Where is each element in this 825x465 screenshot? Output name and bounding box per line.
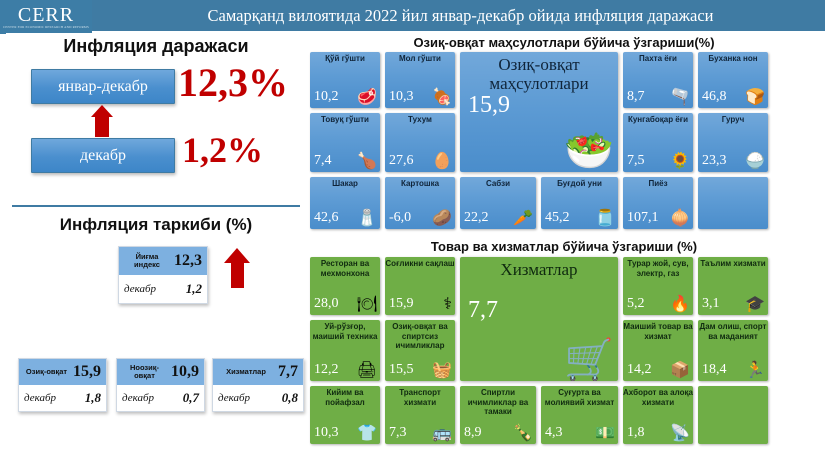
service-tile-label: Соғликни сақлаш [385, 259, 455, 269]
cotton-oil-icon: 🫗 [670, 90, 690, 106]
service-tile-label: Уй-рўзғор, маиший техника [310, 322, 380, 341]
summary-card: Йиғма индекс 12,3 декабр 1,2 [118, 246, 208, 304]
service-tile-label: Кийим ва пойафзал [310, 388, 380, 407]
parcel-box-icon: 📦 [670, 363, 690, 379]
service-tile-value: 3,1 [702, 296, 720, 312]
food-tile-label: Сабзи [460, 179, 536, 189]
mini-card-nonfood: Ноозиқ-овқат 10,9 декабр 0,7 [116, 358, 205, 412]
food-tile: Сабзи 22,2 🥕 [460, 177, 536, 229]
page-title: Самарқанд вилоятида 2022 йил январ-декаб… [96, 0, 825, 31]
service-tile: Кийим ва пойафзал 10,3 👕 [310, 386, 380, 444]
food-tile-label: Буханка нон [698, 54, 768, 64]
mini-card-services-bottom: декабр 0,8 [213, 385, 303, 411]
money-hand-icon: 💵 [595, 426, 615, 442]
flour-sack-icon: 🫙 [595, 211, 615, 227]
summary-card-label: Йиғма индекс [124, 253, 170, 270]
mini-card-food-label: Озиқ-овқат [24, 368, 69, 377]
mini-card-services-subvalue: 0,8 [278, 390, 298, 406]
food-tile: Қўй гўшти 10,2 🥩 [310, 52, 380, 108]
service-tile-label: Озиқ-овқат ва спиртсиз ичимликлар [385, 322, 455, 351]
food-tile-label: Картошка [385, 179, 455, 189]
right-panel: Озиқ-овқат маҳсулотлари бўйича ўзгариши(… [308, 33, 820, 461]
service-tile-value: 1,8 [627, 425, 645, 441]
food-tile: Тухум 27,6 🥚 [385, 113, 455, 172]
fork-plate-knife-icon: 🍽 [357, 297, 377, 313]
service-tile-label: Дам олиш, спорт ва маданият [698, 322, 768, 341]
inflation-structure-title: Инфляция таркиби (%) [6, 215, 306, 235]
service-tile: Уй-рўзғор, маиший техника 12,2 🖨 [310, 320, 380, 381]
home-appliances-icon: 🖨 [357, 363, 377, 379]
food-center-value: 15,9 [468, 92, 510, 119]
food-tile-label: Мол гўшти [385, 54, 455, 64]
service-tile-label: Маиший товар ва хизмат [623, 322, 693, 341]
mini-card-nonfood-top: Ноозиқ-овқат 10,9 [117, 359, 204, 385]
service-tile: Ресторан ва мехмонхона 28,0 🍽 [310, 257, 380, 315]
service-tile-label: Таълим хизмати [698, 259, 768, 269]
bar-jan-dec: январ-декабр [31, 69, 175, 104]
grocery-basket-icon: 🧺 [432, 363, 452, 379]
food-tile: Гуруч 23,3 🍚 [698, 113, 768, 172]
service-tile: Турар жой, сув, электр, газ 5,2 🔥 [623, 257, 693, 315]
car-bus-icon: 🚌 [432, 426, 452, 442]
food-tile-value: 46,8 [702, 89, 727, 105]
potato-icon: 🥔 [432, 211, 452, 227]
food-tile-value: 7,5 [627, 153, 645, 169]
chicken-icon: 🍗 [357, 154, 377, 170]
food-tile: Буханка нон 46,8 🍞 [698, 52, 768, 108]
food-tile-value: -6,0 [389, 210, 411, 226]
service-tile: Транспорт хизмати 7,3 🚌 [385, 386, 455, 444]
services-center-label: Хизматлар [460, 260, 618, 279]
cerr-logo-subtitle: CENTER FOR ECONOMIC RESEARCH AND REFORMS [3, 25, 89, 29]
mini-card-services-label: Хизматлар [218, 368, 274, 377]
mini-card-nonfood-sublabel: декабр [122, 392, 179, 404]
food-tile-label: Шакар [310, 179, 380, 189]
food-tile: Картошка -6,0 🥔 [385, 177, 455, 229]
mini-card-services-sublabel: декабр [218, 392, 278, 404]
service-tile-value: 12,2 [314, 362, 339, 378]
service-tile-value: 15,9 [389, 296, 414, 312]
mini-card-nonfood-bottom: декабр 0,7 [117, 385, 204, 411]
mini-card-nonfood-subvalue: 0,7 [179, 390, 199, 406]
food-section-title: Озиқ-овқат маҳсулотлари бўйича ўзгариши(… [308, 35, 820, 50]
food-tile: Кунгабоқар ёғи 7,5 🌻 [623, 113, 693, 172]
eggs-icon: 🥚 [432, 154, 452, 170]
service-tile-value: 8,9 [464, 425, 482, 441]
service-tile-value: 7,3 [389, 425, 407, 441]
service-tile-label: Турар жой, сув, электр, газ [623, 259, 693, 278]
food-tile-label: Қўй гўшти [310, 54, 380, 64]
food-tile-label: Кунгабоқар ёғи [623, 115, 693, 125]
cerr-logo-text: CERR [18, 6, 74, 25]
bottle-cigarette-icon: 🍾 [513, 426, 533, 442]
mini-card-food-top: Озиқ-овқат 15,9 [19, 359, 106, 385]
sunflower-oil-icon: 🌻 [670, 154, 690, 170]
food-tile-label: Тухум [385, 115, 455, 125]
summary-card-bottom: декабр 1,2 [119, 275, 207, 303]
summary-card-subvalue: 1,2 [182, 281, 202, 297]
food-tile-value: 42,6 [314, 210, 339, 226]
food-tile-label: Пиёз [623, 179, 693, 189]
food-tile-value: 107,1 [627, 210, 659, 226]
utilities-icon: 🔥 [670, 297, 690, 313]
food-tile-label: Гуруч [698, 115, 768, 125]
services-center-value: 7,7 [468, 297, 498, 324]
food-tile-label: Пахта ёғи [623, 54, 693, 64]
service-tile-label: Транспорт хизмати [385, 388, 455, 407]
food-center-tile: Озиқ-овқат маҳсулотлари 15,9 🥗 [460, 52, 618, 172]
service-tile-empty [698, 386, 768, 444]
food-tile-value: 27,6 [389, 153, 414, 169]
mini-card-nonfood-value: 10,9 [167, 363, 199, 381]
medical-cross-icon: ⚕ [443, 297, 452, 313]
food-tile-empty [698, 177, 768, 229]
mini-card-food-sublabel: декабр [24, 392, 81, 404]
bread-loaf-icon: 🍞 [745, 90, 765, 106]
onion-garlic-icon: 🧅 [670, 211, 690, 227]
service-tile: Ахборот ва алоқа хизмати 1,8 📡 [623, 386, 693, 444]
mini-card-food-subvalue: 1,8 [81, 390, 101, 406]
food-tile: Товуқ гўшти 7,4 🍗 [310, 113, 380, 172]
summary-card-top: Йиғма индекс 12,3 [119, 247, 207, 275]
service-tile: Таълим хизмати 3,1 🎓 [698, 257, 768, 315]
food-tile-label: Товуқ гўшти [310, 115, 380, 125]
runner-icon: 🏃 [745, 363, 765, 379]
food-tile-value: 7,4 [314, 153, 332, 169]
service-tile-value: 18,4 [702, 362, 727, 378]
services-bubbles-arrow-icon: 🛒 [564, 340, 614, 380]
communication-icon: 📡 [670, 426, 690, 442]
service-tile-value: 15,5 [389, 362, 414, 378]
service-tile-value: 5,2 [627, 296, 645, 312]
service-tile: Суғурта ва молиявий хизмат 4,3 💵 [541, 386, 618, 444]
sugar-sack-icon: 🧂 [357, 211, 377, 227]
food-tile-value: 22,2 [464, 210, 489, 226]
food-tile: Шакар 42,6 🧂 [310, 177, 380, 229]
left-panel: Инфляция даражаси январ-декабр 12,3% дек… [6, 33, 306, 461]
beef-cubes-icon: 🍖 [432, 90, 452, 106]
food-tile-value: 23,3 [702, 153, 727, 169]
food-tile-value: 8,7 [627, 89, 645, 105]
service-tile-value: 28,0 [314, 296, 339, 312]
mini-card-food-bottom: декабр 1,8 [19, 385, 106, 411]
mini-card-services: Хизматлар 7,7 декабр 0,8 [212, 358, 304, 412]
value-dec: 1,2% [182, 129, 263, 171]
rice-sack-icon: 🍚 [745, 154, 765, 170]
service-tile-label: Ресторан ва мехмонхона [310, 259, 380, 278]
bar-dec: декабр [31, 138, 175, 173]
food-tile-value: 45,2 [545, 210, 570, 226]
service-tile-label: Суғурта ва молиявий хизмат [541, 388, 618, 407]
cerr-logo: CERR CENTER FOR ECONOMIC RESEARCH AND RE… [0, 0, 92, 34]
inflation-rate-title: Инфляция даражаси [6, 36, 306, 57]
assorted-food-icon: 🥗 [564, 131, 614, 171]
service-tile-value: 14,2 [627, 362, 652, 378]
food-tile: Пахта ёғи 8,7 🫗 [623, 52, 693, 108]
mini-card-food: Озиқ-овқат 15,9 декабр 1,8 [18, 358, 107, 412]
service-tile: Соғликни сақлаш 15,9 ⚕ [385, 257, 455, 315]
infographic-poster: CERR CENTER FOR ECONOMIC RESEARCH AND RE… [0, 0, 825, 465]
bar-dec-label: декабр [80, 147, 126, 165]
bar-jan-dec-label: январ-декабр [58, 78, 148, 96]
service-tile: Спиртли ичимликлар ва тамаки 8,9 🍾 [460, 386, 536, 444]
summary-card-sublabel: декабр [124, 283, 182, 295]
graduation-cap-icon: 🎓 [745, 297, 765, 313]
food-tile: Пиёз 107,1 🧅 [623, 177, 693, 229]
mini-card-services-top: Хизматлар 7,7 [213, 359, 303, 385]
service-tile-value: 4,3 [545, 425, 563, 441]
food-tile-value: 10,2 [314, 89, 339, 105]
service-tile-value: 10,3 [314, 425, 339, 441]
service-tile: Дам олиш, спорт ва маданият 18,4 🏃 [698, 320, 768, 381]
section-divider [12, 205, 300, 207]
carrot-icon: 🥕 [513, 211, 533, 227]
service-tile: Маиший товар ва хизмат 14,2 📦 [623, 320, 693, 381]
mini-card-nonfood-label: Ноозиқ-овқат [122, 364, 167, 381]
services-center-tile: Хизматлар 7,7 🛒 [460, 257, 618, 381]
service-tile-label: Спиртли ичимликлар ва тамаки [460, 388, 536, 417]
food-tile-value: 10,3 [389, 89, 414, 105]
summary-card-value: 12,3 [170, 252, 202, 270]
mini-card-services-value: 7,7 [274, 363, 298, 381]
services-section-title: Товар ва хизматлар бўйича ўзгариши (%) [308, 239, 820, 254]
clothing-icon: 👕 [357, 426, 377, 442]
service-tile: Озиқ-овқат ва спиртсиз ичимликлар 15,5 🧺 [385, 320, 455, 381]
food-center-label: Озиқ-овқат маҳсулотлари [460, 55, 618, 93]
service-tile-label: Ахборот ва алоқа хизмати [623, 388, 693, 407]
food-tile: Мол гўшти 10,3 🍖 [385, 52, 455, 108]
mini-card-food-value: 15,9 [69, 363, 101, 381]
food-tile-label: Буғдой уни [541, 179, 618, 189]
lamb-meat-icon: 🥩 [357, 90, 377, 106]
value-jan-dec: 12,3% [178, 59, 288, 106]
food-tile: Буғдой уни 45,2 🫙 [541, 177, 618, 229]
